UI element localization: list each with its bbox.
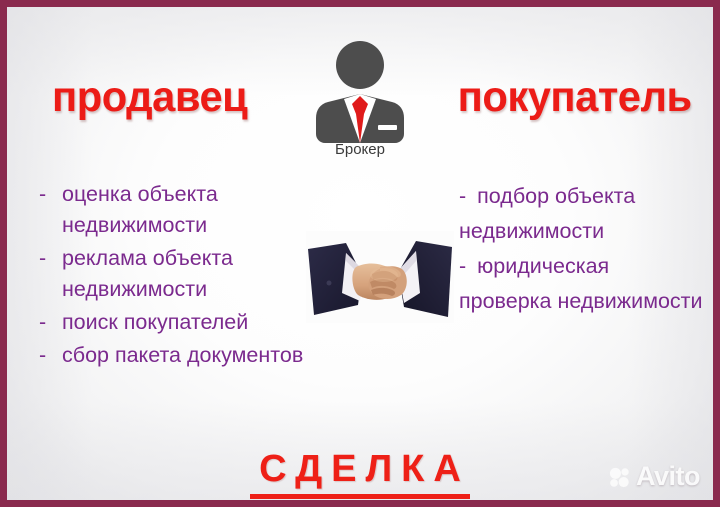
avito-watermark: Avito — [609, 463, 700, 490]
buyer-heading: покупатель — [457, 76, 691, 119]
seller-list: - оценка объекта недвижимости - реклама … — [39, 179, 329, 373]
list-dash: - — [459, 254, 466, 278]
list-item-label: оценка объекта недвижимости — [62, 179, 329, 241]
list-dash: - — [39, 179, 62, 241]
buyer-list: - подбор объекта недвижимости - юридичес… — [459, 179, 707, 319]
broker-person-icon — [294, 38, 426, 143]
list-item-label: юридическая проверка недвижимости — [459, 254, 703, 313]
seller-heading: продавец — [52, 76, 247, 119]
list-item: - поиск покупателей — [39, 307, 329, 338]
broker-badge: Брокер — [294, 38, 426, 158]
list-dash: - — [459, 184, 466, 208]
deal-label: СДЕЛКА — [250, 447, 470, 499]
deal-banner: СДЕЛКА — [7, 447, 713, 499]
poster: продавец покупатель Брокер - оценка объе… — [0, 0, 720, 507]
broker-label: Брокер — [294, 141, 426, 158]
list-item: - сбор пакета документов — [39, 340, 329, 371]
avito-label: Avito — [636, 463, 700, 490]
list-item-label: сбор пакета документов — [62, 340, 329, 371]
avito-logo-icon — [609, 466, 631, 488]
list-dash: - — [39, 340, 62, 371]
list-item: - юридическая проверка недвижимости — [459, 249, 707, 319]
list-item-label: подбор объекта недвижимости — [459, 184, 635, 243]
list-item: - оценка объекта недвижимости — [39, 179, 329, 241]
list-item: - подбор объекта недвижимости — [459, 179, 707, 249]
list-item-label: реклама объекта недвижимости — [62, 243, 329, 305]
list-item: - реклама объекта недвижимости — [39, 243, 329, 305]
list-dash: - — [39, 243, 62, 305]
list-item-label: поиск покупателей — [62, 307, 329, 338]
list-dash: - — [39, 307, 62, 338]
